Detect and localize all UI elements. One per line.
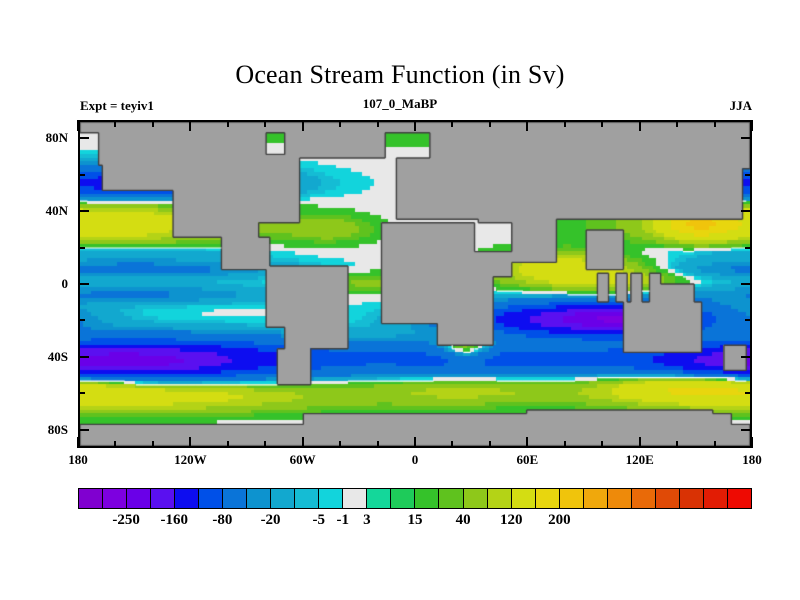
axis-tick bbox=[377, 441, 379, 448]
axis-tick bbox=[489, 120, 491, 127]
colorbar-cell bbox=[584, 489, 608, 508]
axis-tick bbox=[676, 120, 678, 127]
x-axis-label: 60E bbox=[487, 452, 567, 468]
colorbar-cell bbox=[704, 489, 728, 508]
axis-tick bbox=[714, 441, 716, 448]
colorbar-cell bbox=[439, 489, 463, 508]
colorbar-cell bbox=[632, 489, 656, 508]
axis-tick bbox=[741, 210, 752, 212]
colorbar-cell bbox=[656, 489, 680, 508]
axis-tick bbox=[264, 120, 266, 127]
colorbar-cell bbox=[199, 489, 223, 508]
axis-tick bbox=[78, 319, 85, 321]
colorbar-cell bbox=[391, 489, 415, 508]
axis-tick bbox=[451, 441, 453, 448]
axis-tick bbox=[564, 441, 566, 448]
axis-tick bbox=[78, 247, 85, 249]
map-plot-area bbox=[78, 120, 752, 448]
colorbar-cell bbox=[536, 489, 560, 508]
figure-root: Ocean Stream Function (in Sv) 107_0_MaBP… bbox=[0, 0, 800, 600]
colorbar-cell bbox=[608, 489, 632, 508]
colorbar-cell bbox=[415, 489, 439, 508]
axis-tick bbox=[78, 174, 85, 176]
axis-tick bbox=[77, 437, 79, 448]
colorbar-cell bbox=[728, 489, 751, 508]
axis-tick bbox=[339, 441, 341, 448]
axis-tick bbox=[526, 120, 528, 131]
axis-tick bbox=[114, 120, 116, 127]
axis-tick bbox=[152, 120, 154, 127]
axis-tick bbox=[451, 120, 453, 127]
colorbar-cell bbox=[367, 489, 391, 508]
x-axis-label: 60W bbox=[263, 452, 343, 468]
axis-tick bbox=[414, 437, 416, 448]
axis-tick bbox=[264, 441, 266, 448]
axis-tick bbox=[676, 441, 678, 448]
axis-tick bbox=[189, 120, 191, 131]
axis-tick bbox=[414, 120, 416, 131]
axis-tick bbox=[745, 247, 752, 249]
axis-tick bbox=[745, 174, 752, 176]
axis-tick bbox=[78, 210, 89, 212]
axis-tick bbox=[751, 437, 753, 448]
x-axis-label: 180 bbox=[712, 452, 792, 468]
colorbar-cell bbox=[319, 489, 343, 508]
axis-tick bbox=[714, 120, 716, 127]
x-axis-label: 120E bbox=[600, 452, 680, 468]
colorbar-cell bbox=[512, 489, 536, 508]
colorbar-cell bbox=[464, 489, 488, 508]
colorbar-cell bbox=[127, 489, 151, 508]
axis-tick bbox=[377, 120, 379, 127]
y-axis-label: 0 bbox=[8, 276, 68, 292]
x-axis-label: 0 bbox=[375, 452, 455, 468]
axis-tick bbox=[227, 120, 229, 127]
axis-tick bbox=[302, 120, 304, 131]
axis-tick bbox=[77, 120, 79, 131]
axis-tick bbox=[78, 283, 89, 285]
colorbar-cell bbox=[295, 489, 319, 508]
colorbar bbox=[78, 488, 752, 509]
colorbar-cell bbox=[271, 489, 295, 508]
colorbar-cell bbox=[103, 489, 127, 508]
axis-tick bbox=[745, 392, 752, 394]
colorbar-cell bbox=[488, 489, 512, 508]
axis-tick bbox=[227, 441, 229, 448]
stream-function-field bbox=[80, 122, 750, 446]
axis-tick bbox=[339, 120, 341, 127]
y-axis-label: 80N bbox=[8, 130, 68, 146]
axis-tick bbox=[564, 120, 566, 127]
colorbar-cell bbox=[223, 489, 247, 508]
axis-tick bbox=[302, 437, 304, 448]
axis-tick bbox=[741, 356, 752, 358]
colorbar-cell bbox=[79, 489, 103, 508]
axis-tick bbox=[189, 437, 191, 448]
axis-tick bbox=[78, 429, 89, 431]
colorbar-cell bbox=[680, 489, 704, 508]
colorbar-cell bbox=[560, 489, 584, 508]
axis-tick bbox=[489, 441, 491, 448]
y-axis-label: 40S bbox=[8, 349, 68, 365]
y-axis-label: 40N bbox=[8, 203, 68, 219]
y-axis-label: 80S bbox=[8, 422, 68, 438]
axis-tick bbox=[526, 437, 528, 448]
axis-tick bbox=[152, 441, 154, 448]
axis-tick bbox=[741, 137, 752, 139]
axis-tick bbox=[78, 392, 85, 394]
axis-tick bbox=[78, 356, 89, 358]
axis-tick bbox=[601, 441, 603, 448]
axis-tick bbox=[601, 120, 603, 127]
season-label: JJA bbox=[730, 98, 752, 114]
experiment-label: Expt = teyiv1 bbox=[80, 98, 154, 114]
axis-tick bbox=[639, 120, 641, 131]
axis-tick bbox=[741, 283, 752, 285]
axis-tick bbox=[114, 441, 116, 448]
colorbar-cell bbox=[247, 489, 271, 508]
axis-tick bbox=[745, 319, 752, 321]
axis-tick bbox=[78, 137, 89, 139]
colorbar-cell bbox=[151, 489, 175, 508]
colorbar-tick-label: 200 bbox=[529, 512, 589, 529]
x-axis-label: 120W bbox=[150, 452, 230, 468]
colorbar-cell bbox=[175, 489, 199, 508]
page-title: Ocean Stream Function (in Sv) bbox=[0, 60, 800, 90]
axis-tick bbox=[639, 437, 641, 448]
axis-tick bbox=[741, 429, 752, 431]
colorbar-cell bbox=[343, 489, 367, 508]
axis-tick bbox=[751, 120, 753, 131]
x-axis-label: 180 bbox=[38, 452, 118, 468]
